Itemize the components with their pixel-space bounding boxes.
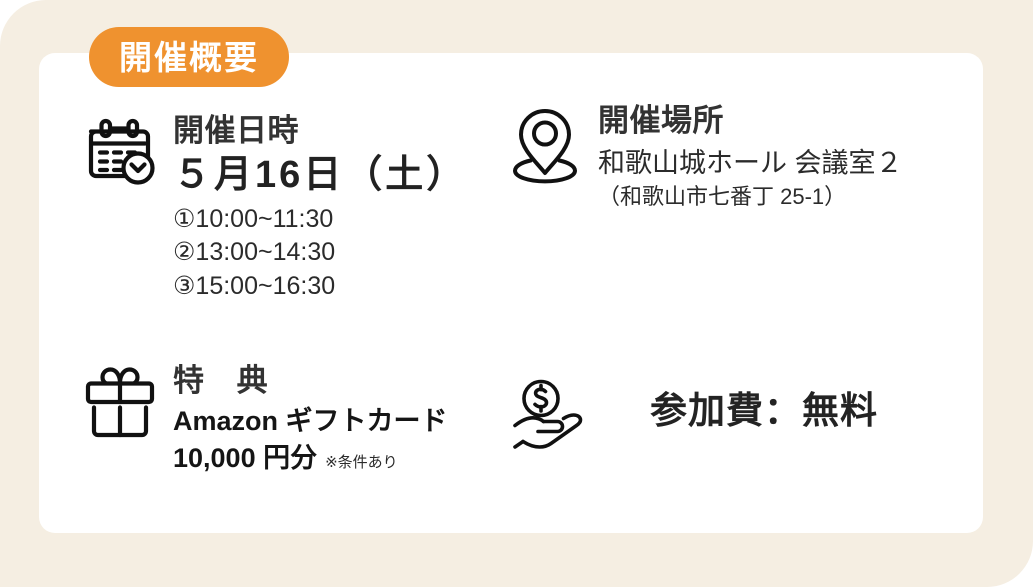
venue-heading: 開催場所 [598, 103, 903, 140]
venue-texts: 開催場所 和歌山城ホール 会議室２ （和歌山市七番丁 25-1） [588, 103, 903, 211]
info-grid: 開催日時 ５月16日（土） ①10:00~11:30 ②13:00~14:30 … [39, 53, 983, 533]
block-venue: 開催場所 和歌山城ホール 会議室２ （和歌山市七番丁 25-1） [502, 103, 903, 211]
benefit-texts: 特 典 Amazon ギフトカード 10,000 円分 ※条件あり [163, 363, 448, 477]
hand-coin-icon [502, 378, 598, 452]
datetime-heading: 開催日時 [173, 113, 467, 150]
venue-address: （和歌山市七番丁 25-1） [598, 183, 903, 212]
benefit-amount-row: 10,000 円分 ※条件あり [173, 441, 448, 477]
time-slot: ③15:00~16:30 [173, 270, 467, 303]
event-summary-card: 開催概要 [0, 0, 1033, 587]
location-pin-icon [502, 103, 588, 185]
benefit-amount: 10,000 円分 [173, 441, 317, 477]
gift-box-icon [77, 363, 163, 441]
datetime-texts: 開催日時 ５月16日（土） ①10:00~11:30 ②13:00~14:30 … [163, 113, 467, 303]
block-datetime: 開催日時 ５月16日（土） ①10:00~11:30 ②13:00~14:30 … [77, 113, 467, 303]
benefit-note: ※条件あり [325, 451, 398, 472]
block-fee: 参加費：無料 [502, 378, 878, 452]
datetime-date: ５月16日（土） [173, 152, 467, 200]
time-slot: ②13:00~14:30 [173, 236, 467, 269]
benefit-item: Amazon ギフトカード [173, 404, 448, 440]
calendar-clock-icon [77, 113, 163, 191]
datetime-time-list: ①10:00~11:30 ②13:00~14:30 ③15:00~16:30 [173, 203, 467, 303]
block-benefit: 特 典 Amazon ギフトカード 10,000 円分 ※条件あり [77, 363, 448, 477]
time-slot: ①10:00~11:30 [173, 203, 467, 236]
venue-name: 和歌山城ホール 会議室２ [598, 146, 903, 181]
benefit-heading: 特 典 [173, 363, 448, 400]
fee-text: 参加費：無料 [598, 378, 878, 429]
